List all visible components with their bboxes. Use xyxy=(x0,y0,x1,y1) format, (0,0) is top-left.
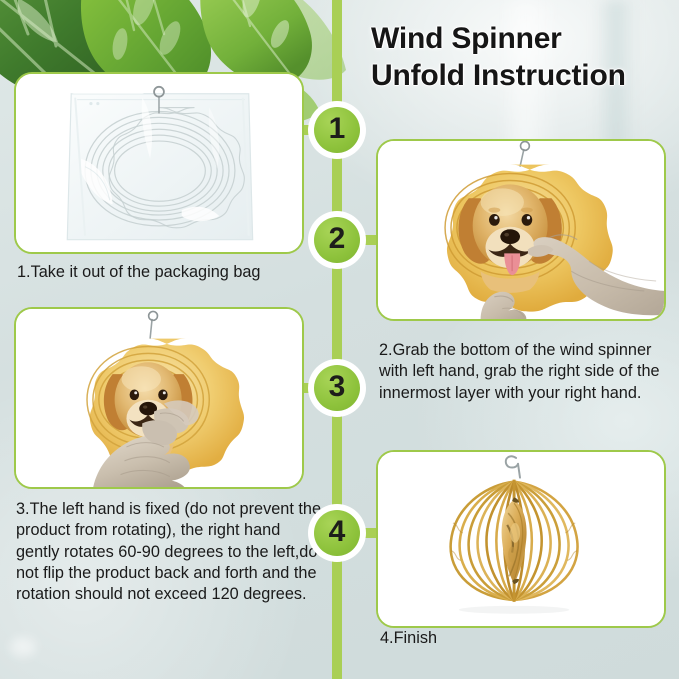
page-title: Wind Spinner Unfold Instruction xyxy=(371,20,671,94)
step-badge-2-number: 2 xyxy=(314,217,360,263)
step-badge-3: 3 xyxy=(308,359,366,417)
step-3-panel xyxy=(14,307,304,489)
step-2-caption: 2.Grab the bottom of the wind spinner wi… xyxy=(379,340,671,404)
step-1-caption: 1.Take it out of the packaging bag xyxy=(17,262,317,283)
page-title-line-1: Wind Spinner xyxy=(371,20,671,57)
step-badge-1-number: 1 xyxy=(314,107,360,153)
step-badge-4-number: 4 xyxy=(314,510,360,556)
step-2-artwork xyxy=(378,141,664,320)
step-1-panel xyxy=(14,72,304,254)
step-3-artwork xyxy=(16,309,302,488)
step-4-caption: 4.Finish xyxy=(380,628,580,649)
step-2-panel xyxy=(376,139,666,321)
step-4-artwork xyxy=(378,452,664,628)
step-3-caption: 3.The left hand is fixed (do not prevent… xyxy=(16,499,324,606)
wind-spinner-instruction-infographic: Wind Spinner Unfold Instruction xyxy=(0,0,679,679)
step-4-panel xyxy=(376,450,666,628)
step-badge-3-number: 3 xyxy=(314,365,360,411)
step-badge-1: 1 xyxy=(308,101,366,159)
page-title-line-2: Unfold Instruction xyxy=(371,57,671,94)
step-1-artwork xyxy=(16,74,302,253)
background-bokeh-dot xyxy=(10,637,36,657)
step-badge-2: 2 xyxy=(308,211,366,269)
step-badge-4: 4 xyxy=(308,504,366,562)
